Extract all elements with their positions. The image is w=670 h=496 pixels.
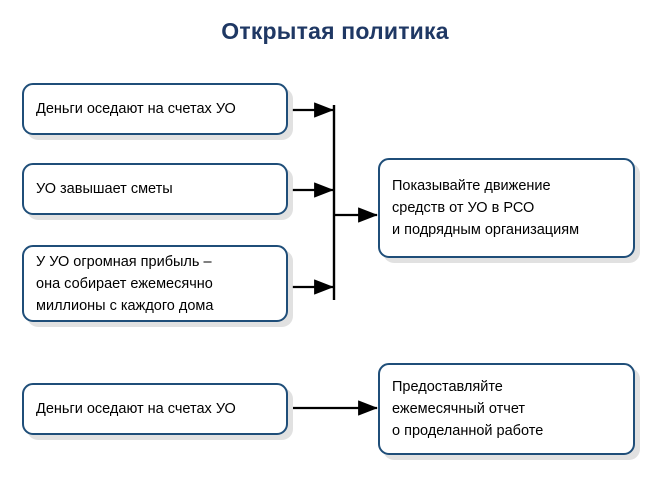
box-monthly-report-line-1: Предоставляйте	[392, 376, 621, 398]
page-title: Открытая политика	[0, 18, 670, 45]
box-monthly-report[interactable]: Предоставляйте ежемесячный отчет о проде…	[378, 363, 635, 455]
box-huge-profit-line-2: она собирает ежемесячно	[36, 273, 274, 295]
box-monthly-report-line-2: ежемесячный отчет	[392, 398, 621, 420]
box-inflated-quotes[interactable]: УО завышает сметы	[22, 163, 288, 215]
box-huge-profit-line-1: У УО огромная прибыль –	[36, 251, 274, 273]
box-inflated-quotes-line-1: УО завышает сметы	[36, 178, 274, 200]
box-show-movement-line-3: и подрядным организациям	[392, 219, 621, 241]
diagram-canvas: Открытая политика Деньги оседают на счет…	[0, 0, 670, 496]
box-money-bottom[interactable]: Деньги оседают на счетах УО	[22, 383, 288, 435]
box-huge-profit[interactable]: У УО огромная прибыль – она собирает еже…	[22, 245, 288, 322]
box-huge-profit-line-3: миллионы с каждого дома	[36, 295, 274, 317]
box-money-left[interactable]: Деньги оседают на счетах УО	[22, 83, 288, 135]
box-show-movement-line-2: средств от УО в РСО	[392, 197, 621, 219]
box-money-left-line-1: Деньги оседают на счетах УО	[36, 98, 274, 120]
box-money-bottom-line-1: Деньги оседают на счетах УО	[36, 398, 274, 420]
box-show-movement[interactable]: Показывайте движение средств от УО в РСО…	[378, 158, 635, 258]
box-show-movement-line-1: Показывайте движение	[392, 175, 621, 197]
box-monthly-report-line-3: о проделанной работе	[392, 420, 621, 442]
